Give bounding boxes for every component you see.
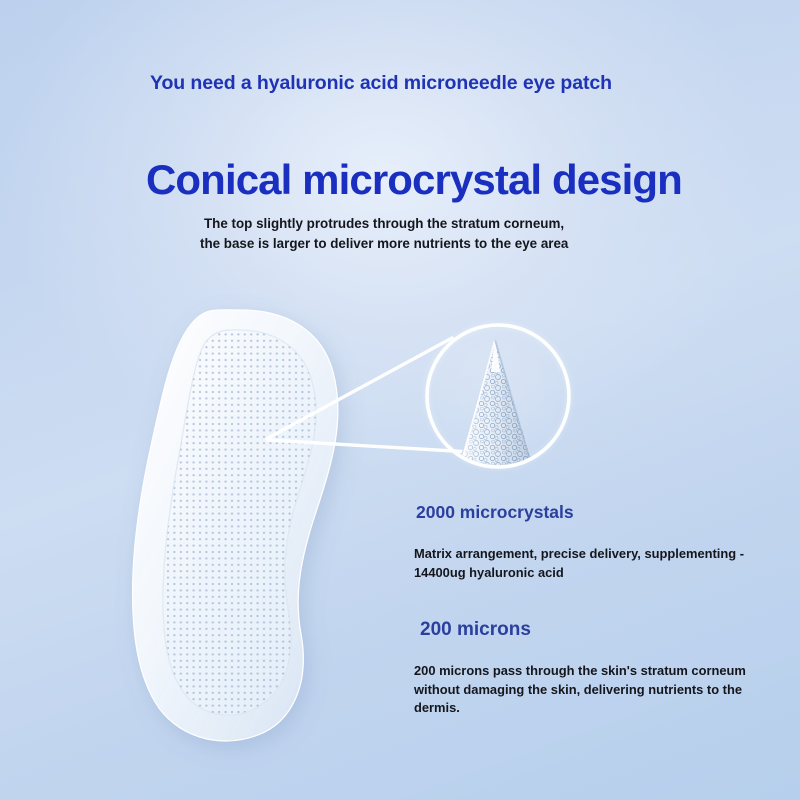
feature-body-microcrystals: Matrix arrangement, precise delivery, su… xyxy=(414,545,786,582)
conical-microneedle xyxy=(458,338,534,468)
poster-canvas: You need a hyaluronic acid microneedle e… xyxy=(0,0,800,800)
subcopy-line-1: The top slightly protrudes through the s… xyxy=(204,214,624,234)
eyebrow-text: You need a hyaluronic acid microneedle e… xyxy=(150,72,670,95)
callout-connector-lines xyxy=(265,338,470,452)
eye-patch-illustration xyxy=(133,310,338,741)
feature-heading-microns: 200 microns xyxy=(420,619,531,641)
feature-heading-microcrystals: 2000 microcrystals xyxy=(416,502,574,523)
microneedle-matrix-area xyxy=(155,322,330,715)
page-title: Conical microcrystal design xyxy=(146,156,706,204)
magnifier-circle xyxy=(427,325,569,467)
feature-body-microns: 200 microns pass through the skin's stra… xyxy=(414,662,782,718)
subcopy-line-2: the base is larger to deliver more nutri… xyxy=(200,234,624,254)
subcopy-block: The top slightly protrudes through the s… xyxy=(204,214,624,253)
